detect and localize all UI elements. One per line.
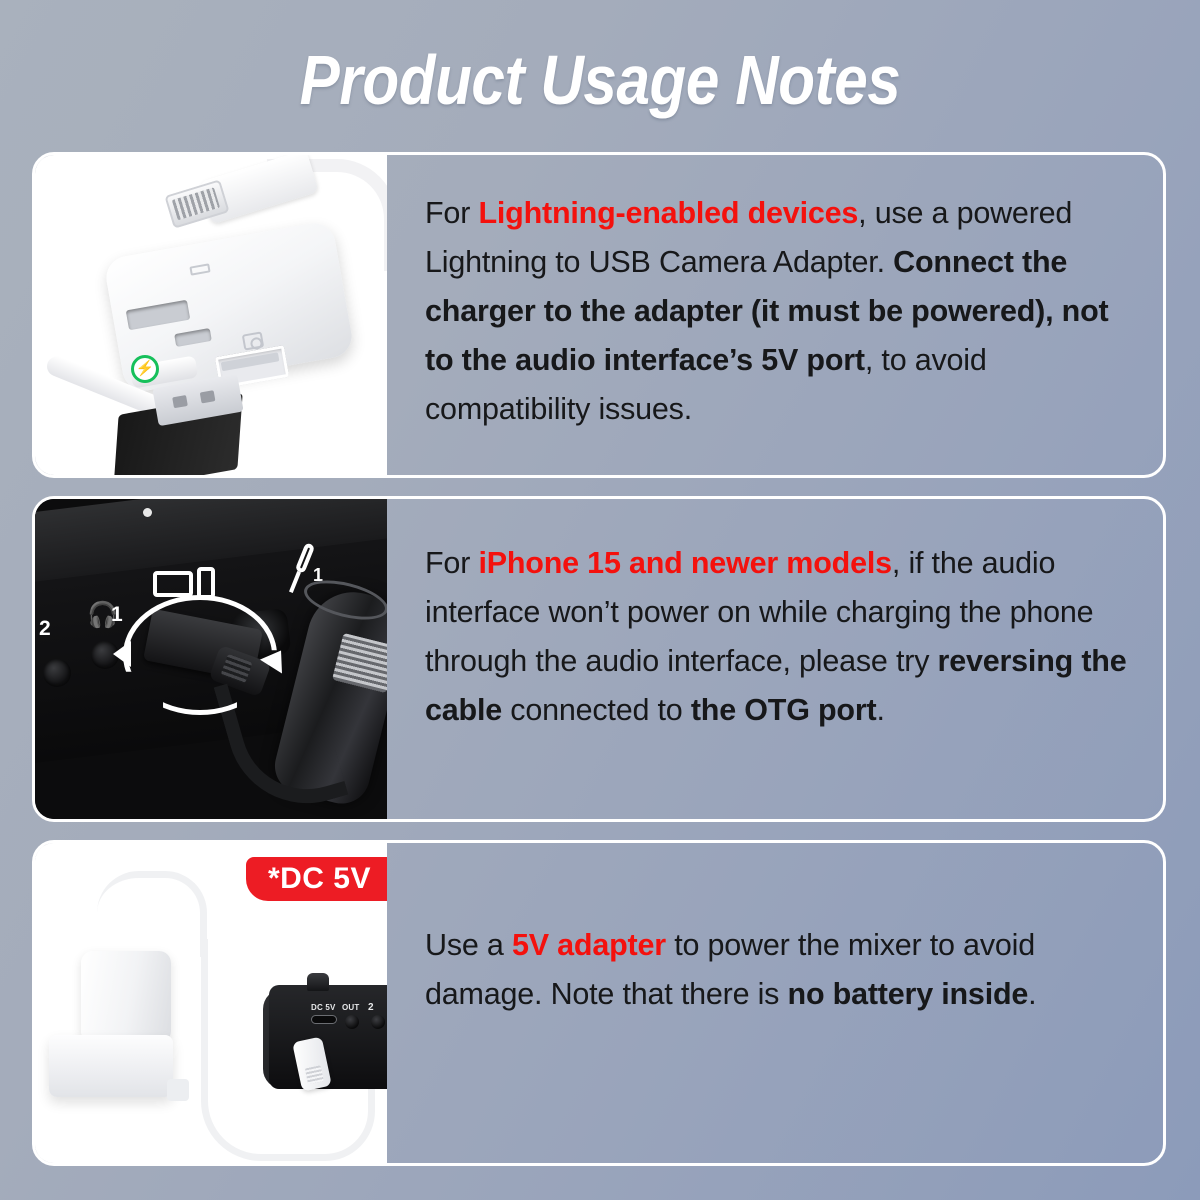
- mixer-label-headphone-2: 2: [368, 1002, 374, 1013]
- mixer-label-dc-5v: DC 5V: [311, 1003, 336, 1012]
- phone-tablet-otg-icon: [153, 571, 193, 597]
- infographic-page: Product Usage Notes ⚡: [0, 0, 1200, 1200]
- headphone-port-2: [371, 1015, 385, 1029]
- note-card-lightning-devices: ⚡ For Lightning-enabled devices, use a p…: [32, 152, 1166, 478]
- dc-5v-badge: *DC 5V: [246, 857, 387, 901]
- white-power-adapter: [81, 951, 171, 1043]
- power-adapter-prong: [167, 1079, 189, 1101]
- phone-tablet-otg-icon-small: [197, 567, 215, 599]
- emphasis-otg-port: the OTG port: [691, 693, 877, 727]
- mixer-knob: [307, 973, 329, 991]
- text-run: For: [425, 196, 478, 230]
- usb-c-cable-right-run: [315, 1087, 375, 1161]
- port-label-2: 2: [39, 617, 51, 641]
- usb-power-adapter-and-mixer-photo: DC 5V OUT 2 1 *DC 5V: [35, 843, 387, 1163]
- indicator-dot: [143, 508, 152, 517]
- text-run: .: [1028, 977, 1036, 1011]
- green-charge-indicator-icon: ⚡: [131, 355, 159, 383]
- note-text-iphone-15-newer: For iPhone 15 and newer models, if the a…: [387, 499, 1163, 819]
- emphasis-no-battery-inside: no battery inside: [788, 977, 1029, 1011]
- dc-5v-usb-c-port: [311, 1015, 337, 1024]
- highlight-5v-adapter: 5V adapter: [512, 928, 666, 962]
- rotation-arrow-left-icon: [113, 641, 131, 667]
- note-card-iphone-15-newer: 🎧 1 2 1: [32, 496, 1166, 822]
- text-run: Use a: [425, 928, 512, 962]
- camera-icon: [242, 331, 264, 350]
- text-run: .: [876, 693, 884, 727]
- text-run: For: [425, 546, 478, 580]
- text-run: connected to: [502, 693, 691, 727]
- note-text-5v-adapter: Use a 5V adapter to power the mixer to a…: [387, 843, 1163, 1163]
- highlight-iphone-15-and-newer: iPhone 15 and newer models: [478, 546, 891, 580]
- usb-c-cable-top-bend: [97, 871, 207, 957]
- out-port: [345, 1015, 359, 1029]
- highlight-lightning-enabled-devices: Lightning-enabled devices: [478, 196, 858, 230]
- headphone-jack-2: [43, 659, 71, 687]
- mixer-label-out: OUT: [342, 1003, 360, 1012]
- lightning-to-usb-camera-adapter-photo: ⚡: [35, 155, 387, 475]
- port-label-1: 1: [111, 603, 123, 627]
- power-adapter-base: [49, 1035, 173, 1097]
- note-text-lightning-devices: For Lightning-enabled devices, use a pow…: [387, 155, 1163, 475]
- note-card-5v-adapter: DC 5V OUT 2 1 *DC 5V Use a 5V adapter to…: [32, 840, 1166, 1166]
- otg-port-cable-reversing-photo: 🎧 1 2 1: [35, 499, 387, 819]
- page-title: Product Usage Notes: [84, 42, 1116, 118]
